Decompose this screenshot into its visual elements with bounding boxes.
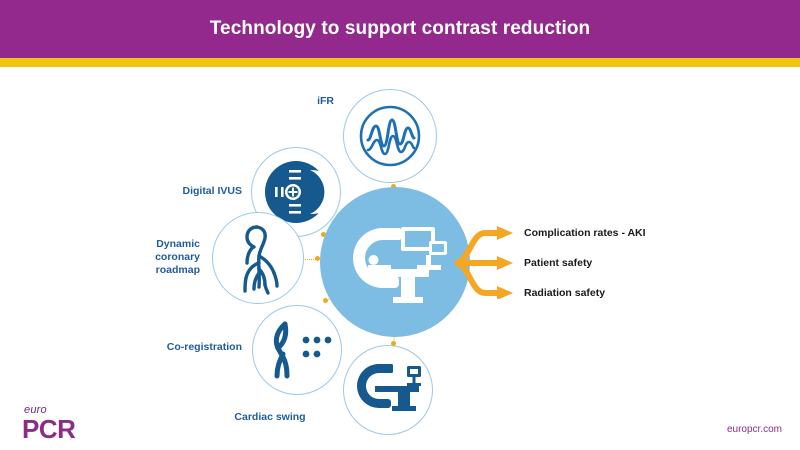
technology-diagram: iFR Digital IVUS	[0, 67, 800, 450]
node-cardiac-swing[interactable]	[343, 345, 433, 435]
outcome-arrows	[455, 223, 521, 299]
outcome-label-patient-safety: Patient safety	[524, 257, 592, 269]
coronary-tree-icon	[227, 221, 289, 295]
logo-pcr-text: PCR	[22, 415, 75, 443]
outcome-label-radiation-safety: Radiation safety	[524, 287, 605, 299]
page-title: Technology to support contrast reduction	[0, 0, 800, 58]
node-label-ifr: iFR	[278, 95, 334, 108]
c-arm-icon	[353, 360, 423, 420]
node-label-digital-ivus: Digital IVUS	[148, 185, 242, 198]
vessel-coregistration-icon	[261, 318, 333, 382]
waveform-icon	[356, 102, 424, 170]
footer-url: europcr.com	[727, 424, 782, 435]
node-co-registration[interactable]	[252, 305, 342, 395]
node-ifr[interactable]	[343, 89, 437, 183]
outcome-label-complication-rates: Complication rates - AKI	[524, 227, 646, 239]
node-label-dynamic-coronary-roadmap: Dynamic coronary roadmap	[122, 238, 200, 277]
header-accent-rule	[0, 58, 800, 67]
slide-canvas: Technology to support contrast reduction	[0, 0, 800, 450]
connector-dot-coreg-a	[323, 298, 328, 303]
node-dynamic-coronary-roadmap[interactable]	[212, 212, 304, 304]
center-node-cath-lab[interactable]	[320, 187, 470, 337]
node-label-co-registration: Co-registration	[146, 341, 242, 354]
cath-lab-icon	[343, 219, 447, 305]
node-label-cardiac-swing: Cardiac swing	[200, 411, 340, 424]
europcr-logo: euro PCR	[22, 404, 102, 444]
